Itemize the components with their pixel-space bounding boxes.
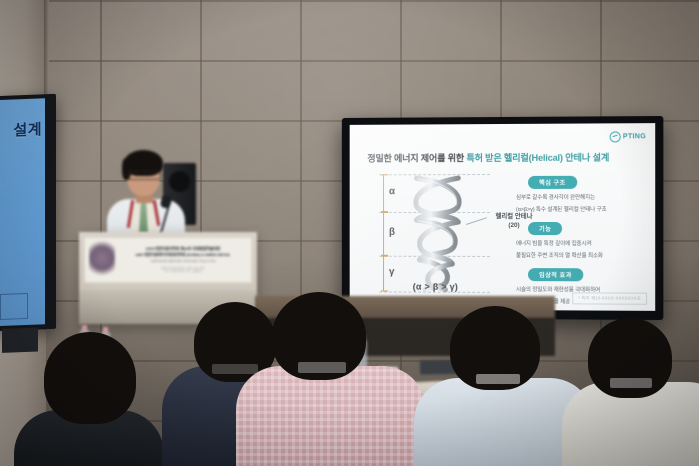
presentation-slide: PTING 정밀한 에너지 제어를 위한 특허 받은 헬리컬(Helical) … bbox=[350, 123, 656, 311]
banner-line-2: with 대한미용레이저재생의학회 (KOBA) & KIMES SEOUL bbox=[119, 252, 247, 257]
brace-alpha bbox=[383, 174, 384, 212]
audience-4-collar bbox=[476, 374, 520, 384]
info-text-structure-1: 심부로 갈수록 경사각이 완만해지는 bbox=[516, 193, 645, 202]
audience-5-collar bbox=[610, 378, 652, 388]
main-presentation-display: PTING 정밀한 에너지 제어를 위한 특허 받은 헬리컬(Helical) … bbox=[342, 116, 664, 320]
left-display-text: 설계 bbox=[13, 118, 42, 140]
info-block-function: 기능 에너지 빔을 특정 깊이에 집중시켜 불필요한 주변 조직의 열 확산을 … bbox=[516, 218, 645, 261]
left-display-box bbox=[0, 293, 28, 320]
list-item bbox=[258, 292, 398, 466]
info-text-function-2: 불필요한 주변 조직의 열 확산을 최소화 bbox=[516, 252, 645, 261]
banner-line-1: 2025 대한미용의학회 제43차 국제종합학술대회 bbox=[119, 246, 247, 251]
slide-title-lead: 정밀한 에너지 제어를 위한 bbox=[367, 153, 466, 163]
list-item bbox=[572, 318, 699, 466]
slide-title: 정밀한 에너지 제어를 위한 특허 받은 헬리컬(Helical) 안테나 설계 bbox=[367, 149, 639, 164]
label-gamma: γ bbox=[389, 267, 394, 278]
left-side-display: 설계 bbox=[0, 94, 56, 331]
audience-3-body bbox=[236, 366, 426, 466]
presentation-room-photo: 설계 PTING 정밀한 에너지 제어를 위한 특허 받은 헬리컬(Helica… bbox=[0, 0, 699, 466]
circle-swoosh-icon bbox=[610, 131, 621, 142]
label-alpha: α bbox=[389, 186, 395, 197]
brace-beta bbox=[383, 212, 384, 256]
banner-artwork bbox=[89, 241, 115, 279]
glasses-icon bbox=[128, 171, 161, 180]
info-badge-structure: 핵심 구조 bbox=[528, 175, 577, 189]
left-display-screen: 설계 bbox=[0, 98, 45, 326]
banner-line-3: 디지털미디어랩 | 재생의학세션 | 피부과학세션 | 학술포스터 발표 bbox=[119, 260, 247, 263]
podium-banner: 2025 대한미용의학회 제43차 국제종합학술대회 with 대한미용레이저재… bbox=[84, 237, 252, 283]
diagram-caption: (α > β > γ) bbox=[371, 281, 500, 292]
label-beta: β bbox=[389, 227, 395, 238]
banner-line-4: 2025. 09. 5(금) 목요일 / 코엑스 서울 코엑스 bbox=[119, 267, 247, 270]
helix-coil-graphic bbox=[401, 170, 478, 296]
audience-2-collar bbox=[212, 364, 258, 374]
banner-line-5: 주최 : 대한미용의학회 / 주관 : 학술위원회 bbox=[119, 271, 247, 274]
info-text-function-1: 에너지 빔을 특정 깊이에 집중시켜 bbox=[516, 240, 645, 249]
info-badge-function: 기능 bbox=[528, 222, 562, 236]
list-item bbox=[14, 332, 164, 466]
slide-logo-wordmark: PTING bbox=[623, 133, 646, 140]
slide-logo: PTING bbox=[610, 131, 646, 142]
info-text-structure-2: (α>β>γ) 특수 설계된 헬리컬 안테나 구조 bbox=[516, 206, 645, 215]
info-badge-clinical: 임상적 효과 bbox=[528, 268, 583, 282]
list-item bbox=[432, 306, 572, 466]
slide-title-highlight: 특허 받은 헬리컬(Helical) 안테나 설계 bbox=[466, 153, 609, 164]
slide-footnote: * 특허 제10-XXXX-XXXXXXX호 bbox=[572, 292, 647, 304]
info-block-structure: 핵심 구조 심부로 갈수록 경사각이 완만해지는 (α>β>γ) 특수 설계된 … bbox=[516, 172, 645, 215]
helical-antenna-diagram: α β γ bbox=[371, 168, 500, 298]
audience-1-head bbox=[44, 332, 136, 424]
banner-text-group: 2025 대한미용의학회 제43차 국제종합학술대회 with 대한미용레이저재… bbox=[119, 246, 247, 275]
main-display-screen: PTING 정밀한 에너지 제어를 위한 특허 받은 헬리컬(Helical) … bbox=[350, 123, 656, 311]
audience-3-collar bbox=[298, 362, 346, 373]
